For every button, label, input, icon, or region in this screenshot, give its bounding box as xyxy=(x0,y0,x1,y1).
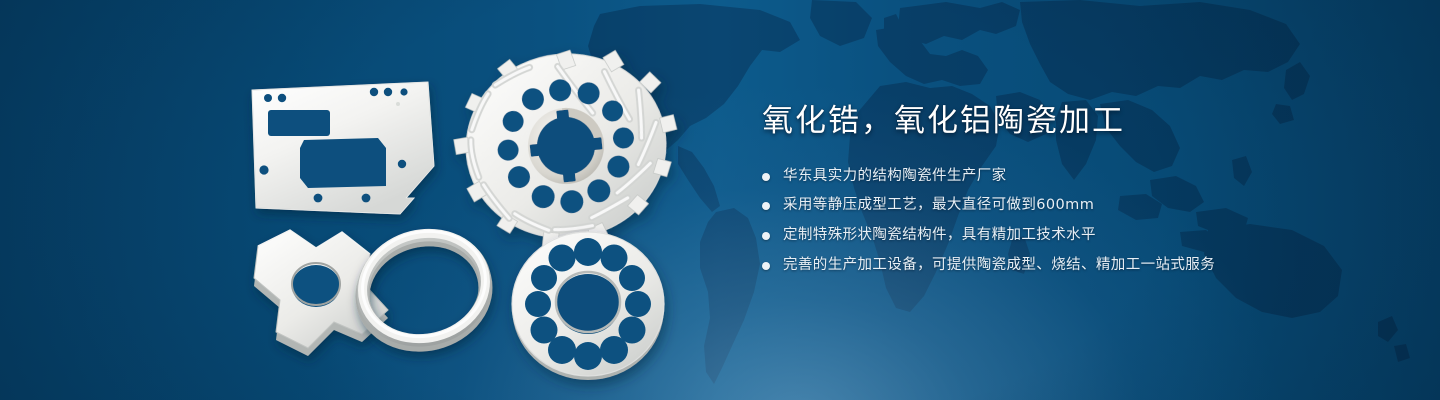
list-item-label: 华东具实力的结构陶瓷件生产厂家 xyxy=(783,166,1007,188)
bullet-dot-icon xyxy=(762,202,770,210)
feature-list: 华东具实力的结构陶瓷件生产厂家 采用等静压成型工艺，最大直径可做到600mm 定… xyxy=(762,166,1382,277)
ceramic-perforated-disc-shape xyxy=(512,232,664,380)
list-item: 定制特殊形状陶瓷结构件，具有精加工技术水平 xyxy=(762,225,1382,247)
list-item: 采用等静压成型工艺，最大直径可做到600mm xyxy=(762,195,1382,217)
ceramic-products-image xyxy=(230,38,700,378)
list-item-label: 完善的生产加工设备，可提供陶瓷成型、烧结、精加工一站式服务 xyxy=(783,255,1215,277)
ceramic-vaned-impeller-shape xyxy=(446,40,688,257)
ceramic-mounting-plate-shape xyxy=(252,82,434,214)
bullet-dot-icon xyxy=(762,232,770,240)
page-title: 氧化锆，氧化铝陶瓷加工 xyxy=(762,104,1382,140)
list-item-label: 采用等静压成型工艺，最大直径可做到600mm xyxy=(783,195,1094,217)
banner-copy: 氧化锆，氧化铝陶瓷加工 华东具实力的结构陶瓷件生产厂家 采用等静压成型工艺，最大… xyxy=(762,104,1382,277)
list-item-label: 定制特殊形状陶瓷结构件，具有精加工技术水平 xyxy=(783,225,1096,247)
ceramic-ring-shape xyxy=(351,219,496,358)
list-item: 完善的生产加工设备，可提供陶瓷成型、烧结、精加工一站式服务 xyxy=(762,255,1382,277)
hero-banner: 氧化锆，氧化铝陶瓷加工 华东具实力的结构陶瓷件生产厂家 采用等静压成型工艺，最大… xyxy=(0,0,1440,400)
list-item: 华东具实力的结构陶瓷件生产厂家 xyxy=(762,166,1382,188)
bullet-dot-icon xyxy=(762,262,770,270)
bullet-dot-icon xyxy=(762,173,770,181)
